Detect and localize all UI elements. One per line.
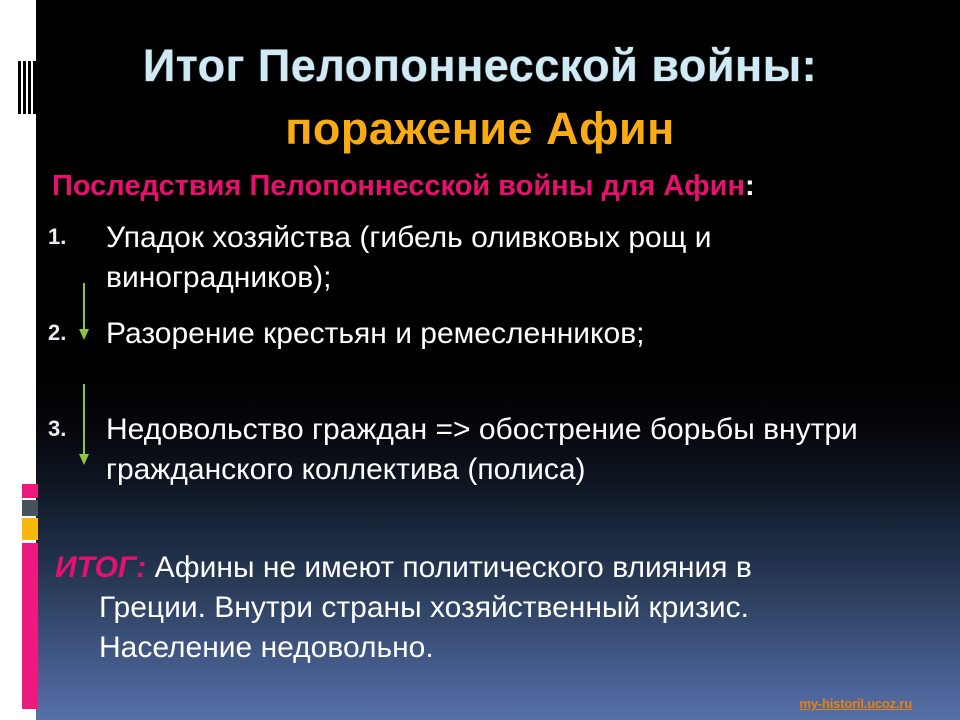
subheading-colon: :: [745, 170, 755, 202]
list-item-marker: 1.: [48, 224, 90, 250]
subheading-text: Последствия Пелопоннесской войны для Афи…: [52, 170, 745, 202]
arrow-down-icon: [77, 283, 91, 341]
watermark-link[interactable]: my-historil.ucoz.ru: [800, 696, 913, 711]
chip-slate: [22, 500, 38, 516]
chip-pink-long: [22, 543, 38, 709]
subheading: Последствия Пелопоннесской войны для Афи…: [52, 170, 755, 203]
conclusion-line-3: Население недовольно.: [99, 628, 915, 668]
slide-title-line-2: поражение Афин: [0, 103, 960, 155]
list-item: 2. Разорение крестьян и ремесленников;: [48, 314, 918, 354]
list-item-label: Недовольство граждан => обострение борьб…: [106, 410, 918, 489]
conclusion-line-1: Афины не имеют политического влияния в: [146, 551, 752, 584]
arrow-down-icon: [77, 384, 91, 466]
conclusion-block: ИТОГ: Афины не имеют политического влиян…: [55, 548, 915, 668]
chip-amber: [22, 518, 38, 540]
conclusion-lead: ИТОГ:: [55, 551, 146, 584]
list-item: 3. Недовольство граждан => обострение бо…: [48, 410, 918, 489]
presentation-slide: Итог Пелопоннесской войны: поражение Афи…: [0, 0, 960, 720]
conclusion-line-2: Греции. Внутри страны хозяйственный криз…: [99, 588, 915, 628]
slide-title-line-1: Итог Пелопоннесской войны:: [0, 40, 960, 92]
list-item-label: Разорение крестьян и ремесленников;: [106, 314, 918, 354]
list-item-label: Упадок хозяйства (гибель оливковых рощ и…: [106, 218, 918, 297]
chip-pink-top: [22, 484, 38, 498]
list-item: 1. Упадок хозяйства (гибель оливковых ро…: [48, 218, 918, 297]
